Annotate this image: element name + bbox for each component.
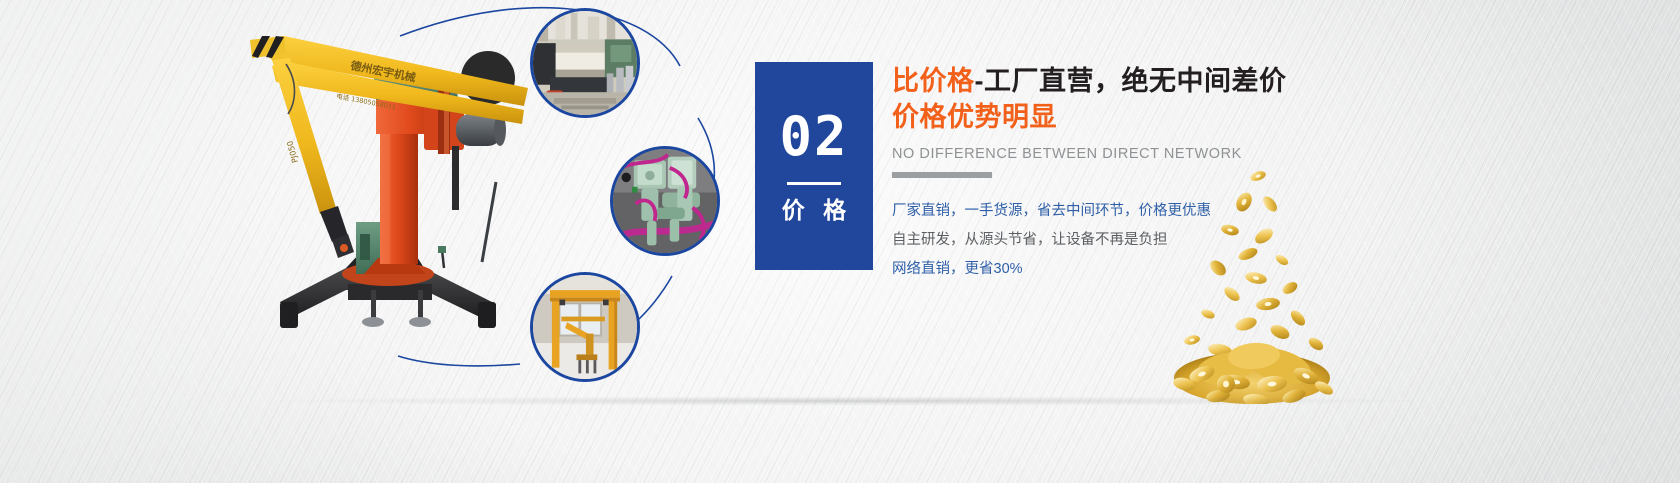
gantry-crane-image (533, 275, 637, 379)
headline-line-2: 价格优势明显 (892, 100, 1312, 136)
circle-photo-valve-assembly[interactable] (610, 146, 720, 256)
step-number: 02 (779, 110, 848, 170)
machine-shop-image (533, 11, 637, 115)
circle-photo-gantry-crane[interactable] (530, 272, 640, 382)
promo-banner: 德州宏宇机械 电话 13805058011 PJ050 (0, 0, 1680, 483)
panel-divider (787, 182, 841, 185)
circle-photo-machine-shop[interactable] (530, 8, 640, 118)
step-number-panel: 02 价 格 (755, 62, 873, 270)
step-label: 价 格 (776, 199, 852, 222)
gold-coins-illustration (1148, 168, 1338, 404)
valve-assembly-image (613, 149, 717, 253)
svg-text:PJ050: PJ050 (285, 140, 300, 164)
accent-rule-bar (892, 172, 992, 178)
headline-rest: -工厂直营，绝无中间差价 (975, 66, 1287, 96)
crane-product-photo: 德州宏宇机械 电话 13805058011 PJ050 (228, 22, 538, 352)
headline-accent: 比价格 (892, 66, 975, 96)
english-subtitle: NO DIFFERENCE BETWEEN DIRECT NETWORK (892, 146, 1312, 162)
headline-line-1: 比价格-工厂直营，绝无中间差价 (892, 64, 1312, 100)
